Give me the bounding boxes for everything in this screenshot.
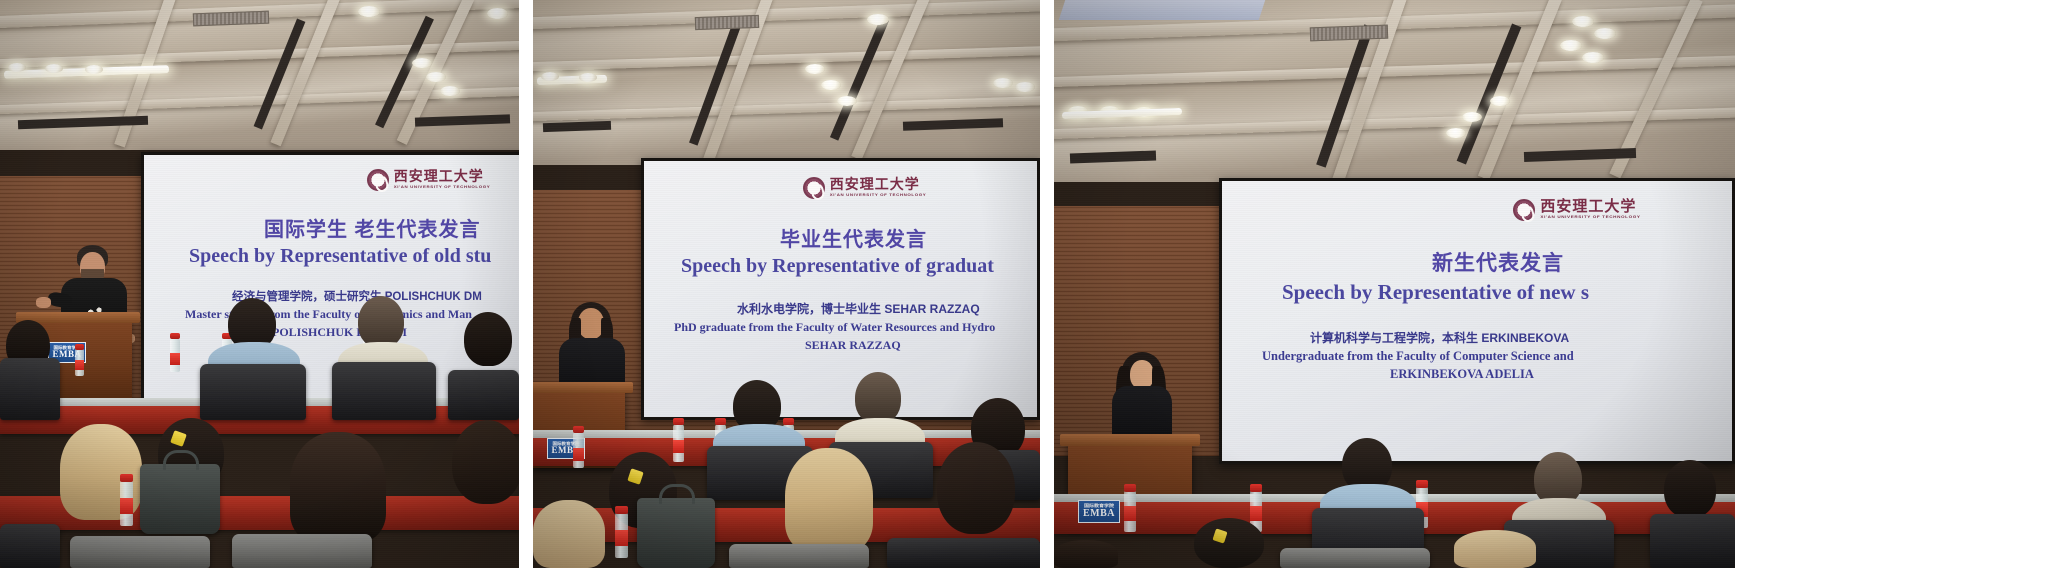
logo-chinese-name: 西安理工大学 <box>394 171 491 185</box>
audience-chair <box>200 364 306 420</box>
slide-title-chinese: 国际学生 老生代表发言 <box>264 213 481 242</box>
speaker-head <box>1130 360 1154 389</box>
bottle-cap <box>1416 480 1428 488</box>
slide-speaker-name: SEHAR RAZZAQ <box>805 338 901 353</box>
bottle-cap <box>1250 484 1262 492</box>
panel-3-new-student-representative: 西安理工大学 XI'AN UNIVERSITY OF TECHNOLOGY 新生… <box>1054 0 1735 568</box>
bottle-label <box>573 448 584 461</box>
audience-chair <box>70 536 210 568</box>
audience-head <box>358 296 404 348</box>
audience-head <box>1664 460 1716 518</box>
handbag <box>140 464 220 534</box>
bottle-label <box>170 353 180 365</box>
ceiling-vent <box>193 11 269 27</box>
bottle-cap <box>75 344 84 350</box>
podium-surface <box>1060 434 1200 446</box>
bottle-cap <box>673 418 684 425</box>
handbag-handle <box>163 450 199 470</box>
audience-chair <box>729 544 869 568</box>
handbag-handle <box>659 484 695 504</box>
audience-chair <box>448 370 519 420</box>
bottle-cap <box>1124 484 1136 492</box>
bottle-cap <box>783 418 794 425</box>
logo-english-name: XI'AN UNIVERSITY OF TECHNOLOGY <box>1540 216 1640 220</box>
ceiling-panel-1 <box>0 0 519 150</box>
university-logo: 西安理工大学 XI'AN UNIVERSITY OF TECHNOLOGY <box>803 177 927 199</box>
audience-chair <box>232 534 372 568</box>
bottle-cap <box>120 474 133 482</box>
audience-head <box>937 442 1015 534</box>
audience-head <box>464 312 512 366</box>
slide-title-chinese: 新生代表发言 <box>1432 247 1564 277</box>
audience-head-blonde <box>1454 530 1536 568</box>
logo-english-name: XI'AN UNIVERSITY OF TECHNOLOGY <box>830 193 927 197</box>
emba-top-line: 国际教育学院 <box>1084 504 1114 508</box>
projection-screen-panel-3: 西安理工大学 XI'AN UNIVERSITY OF TECHNOLOGY 新生… <box>1219 178 1735 464</box>
ceiling-panel-2 <box>533 0 1040 165</box>
bottle-label <box>1250 506 1262 521</box>
emba-sign: 国际教育学院 EMBA <box>1078 500 1120 523</box>
xaut-emblem-icon <box>803 177 825 199</box>
slide-subtitle-chinese: 计算机科学与工程学院，本科生 ERKINBEKOVA <box>1310 329 1569 346</box>
audience-head <box>290 432 386 542</box>
bottle-label <box>120 498 133 514</box>
speaker-left-hand <box>36 297 51 308</box>
university-logo: 西安理工大学 XI'AN UNIVERSITY OF TECHNOLOGY <box>1513 199 1640 221</box>
slide-title-english: Speech by Representative of old stu <box>189 245 491 268</box>
slide-subtitle-english: Undergraduate from the Faculty of Comput… <box>1262 349 1574 364</box>
xaut-emblem-icon <box>367 169 389 191</box>
logo-chinese-name: 西安理工大学 <box>1540 200 1640 215</box>
logo-chinese-name: 西安理工大学 <box>830 179 927 193</box>
projection-screen-panel-2: 西安理工大学 XI'AN UNIVERSITY OF TECHNOLOGY 毕业… <box>641 158 1040 420</box>
audience-head <box>1194 518 1264 568</box>
slide-panel-2: 西安理工大学 XI'AN UNIVERSITY OF TECHNOLOGY 毕业… <box>644 161 1037 417</box>
slide-subtitle-chinese: 经济与管理学院，硕士研究生 POLISHCHUK DM <box>232 288 482 304</box>
slide-subtitle-chinese: 水利水电学院，博士毕业生 SEHAR RAZZAQ <box>737 300 980 317</box>
university-logo: 西安理工大学 XI'AN UNIVERSITY OF TECHNOLOGY <box>367 169 491 191</box>
panel-2-graduate-representative: 西安理工大学 XI'AN UNIVERSITY OF TECHNOLOGY 毕业… <box>533 0 1040 568</box>
slide-title-english: Speech by Representative of graduat <box>681 255 994 278</box>
audience-head <box>855 372 901 424</box>
slide-panel-3: 西安理工大学 XI'AN UNIVERSITY OF TECHNOLOGY 新生… <box>1222 181 1732 461</box>
podium-surface <box>533 382 633 393</box>
audience-chair <box>332 362 436 420</box>
slide-title-english: Speech by Representative of new s <box>1282 280 1589 305</box>
slide-speaker-name: ERKINBEKOVA ADELIA <box>1390 367 1534 382</box>
emba-main-label: EMBA <box>1083 509 1115 519</box>
bottle-label <box>673 440 684 453</box>
audience-chair <box>887 538 1040 568</box>
audience-chair <box>0 358 60 420</box>
ceiling-vent <box>695 15 759 30</box>
audience-head-blonde <box>533 500 605 568</box>
logo-english-name: XI'AN UNIVERSITY OF TECHNOLOGY <box>394 185 491 189</box>
bottle-cap <box>615 506 628 514</box>
audience-chair <box>0 524 60 568</box>
bottle-cap <box>170 333 180 339</box>
audience-head-blonde <box>785 448 873 552</box>
audience-chair <box>1650 514 1735 568</box>
panel-1-old-student-representative: 西安理工大学 XI'AN UNIVERSITY OF TECHNOLOGY 国际… <box>0 0 519 568</box>
slide-title-chinese: 毕业生代表发言 <box>780 223 927 252</box>
handbag <box>637 498 715 568</box>
ceiling-vent <box>1310 25 1388 42</box>
slide-subtitle-english: PhD graduate from the Faculty of Water R… <box>674 320 995 335</box>
collage-gutter-2 <box>1040 0 1054 568</box>
bottle-label <box>615 530 628 546</box>
bottle-label <box>1124 506 1136 521</box>
audience-head <box>452 420 519 504</box>
collage-gutter-1 <box>519 0 533 568</box>
skylight <box>1059 0 1265 20</box>
ceiling-panel-3 <box>1054 0 1735 182</box>
bottle-cap <box>573 426 584 433</box>
xaut-emblem-icon <box>1513 199 1535 221</box>
bottle-label <box>75 360 84 370</box>
bottle-cap <box>715 418 726 425</box>
photo-collage: 西安理工大学 XI'AN UNIVERSITY OF TECHNOLOGY 国际… <box>0 0 2048 568</box>
audience-head <box>1054 540 1118 568</box>
audience-chair <box>1280 548 1430 568</box>
